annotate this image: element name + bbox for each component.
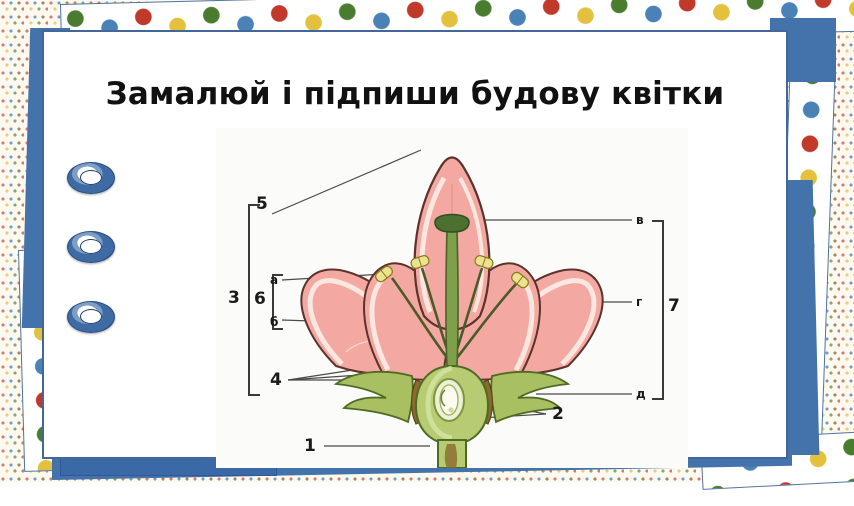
slide-canvas: Замалюй і підпиши будову квітки [0,0,854,506]
sepal-left [336,372,413,422]
page-title: Замалюй і підпиши будову квітки [44,76,786,112]
label-6: 6 [254,291,266,308]
label-b: б [270,316,278,328]
label-a: а [270,274,278,286]
label-5: 5 [256,196,268,213]
label-4: 4 [270,372,282,389]
bracket-7 [652,220,664,400]
pistil-style [446,228,458,366]
label-g: г [636,296,642,308]
flower-structure-diagram: 5 3 6 а б 4 1 в г д 7 2 [216,128,688,468]
label-7: 7 [668,298,680,315]
label-1: 1 [304,438,316,455]
white-page-card: Замалюй і підпиши будову квітки [42,30,788,459]
stigma [435,215,469,233]
label-2: 2 [552,406,564,423]
binder-ring-2 [67,231,115,263]
binder-ring-1 [67,162,115,194]
label-3: 3 [228,290,240,307]
label-d: д [636,388,646,400]
label-v: в [636,214,644,226]
binder-ring-3 [67,301,115,333]
